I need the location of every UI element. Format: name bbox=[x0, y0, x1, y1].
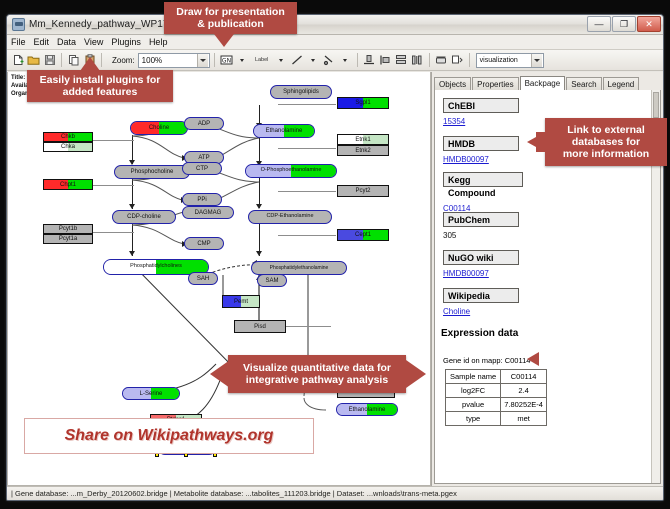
link-pcyt2-edge bbox=[278, 191, 336, 192]
status-bar: | Gene database: ...m_Derby_20120602.bri… bbox=[7, 486, 663, 500]
callout-line: Draw for presentation bbox=[176, 6, 285, 18]
node-sphingolipids[interactable]: Sphingolipids bbox=[270, 85, 332, 99]
align-top-icon[interactable] bbox=[362, 53, 377, 68]
node-label: O-Phosphoethanolamine bbox=[261, 168, 322, 174]
close-button[interactable]: ✕ bbox=[637, 16, 661, 32]
gene-etnk2[interactable]: Etnk2 bbox=[337, 145, 389, 156]
callout-line: Link to external bbox=[563, 124, 649, 136]
cell-key: pvalue bbox=[446, 398, 501, 412]
label-tool-icon[interactable]: Label bbox=[251, 53, 273, 68]
node-label: Pcyt1a bbox=[59, 236, 77, 242]
db-link-nugo[interactable]: HMDB00097 bbox=[443, 269, 519, 278]
menu-item-plugins[interactable]: Plugins bbox=[111, 37, 141, 47]
node-label: Pisd bbox=[254, 324, 266, 330]
node-cdp-ethanolamine[interactable]: CDP-Ethanolamine bbox=[248, 210, 332, 224]
node-l-serine-left[interactable]: L-Serine bbox=[122, 387, 180, 400]
toolbar-separator bbox=[429, 53, 430, 67]
share-banner-text: Share on Wikipathways.org bbox=[65, 427, 274, 445]
chevron-down-icon[interactable] bbox=[306, 53, 321, 68]
menu-item-view[interactable]: View bbox=[84, 37, 103, 47]
gene-pisd[interactable]: Pisd bbox=[234, 320, 286, 333]
gene-pcyt1b[interactable]: Pcyt1b bbox=[43, 224, 93, 234]
expression-table: Sample name C00114 log2FC 2.4 pvalue 7.8… bbox=[445, 369, 547, 426]
db-block-hmdb: HMDB HMDB00097 bbox=[443, 134, 519, 164]
db-block-kegg: Kegg Compound C00114 bbox=[443, 172, 523, 213]
new-file-icon[interactable] bbox=[10, 53, 25, 68]
db-name: HMDB bbox=[443, 136, 519, 151]
db-block-pubchem: PubChem 305 bbox=[443, 210, 519, 240]
gene-id-line: Gene id on mapp: C00114 bbox=[443, 356, 530, 365]
table-row: pvalue 7.80252E-4 bbox=[446, 398, 547, 412]
node-label: Cept1 bbox=[355, 232, 371, 238]
node-label: ATP bbox=[198, 155, 209, 161]
gene-pcyt1a[interactable]: Pcyt1a bbox=[43, 234, 93, 244]
callout-visualize: Visualize quantitative data for integrat… bbox=[228, 355, 406, 393]
callout-draw-arrow bbox=[214, 34, 234, 47]
node-label: Chpt1 bbox=[60, 182, 76, 188]
group-icon[interactable] bbox=[434, 53, 449, 68]
db-name: PubChem bbox=[443, 212, 519, 227]
link-pcyt1-edge bbox=[92, 232, 134, 233]
toolbar-separator bbox=[61, 53, 62, 67]
datanode-icon[interactable]: GN bbox=[219, 53, 234, 68]
callout-line: Easily install plugins for bbox=[40, 74, 161, 86]
callout-line: more information bbox=[563, 148, 649, 160]
gene-chpt1[interactable]: Chpt1 bbox=[43, 179, 93, 190]
visualization-combobox[interactable]: visualization bbox=[476, 53, 544, 68]
node-label: SAH bbox=[197, 276, 209, 282]
callout-links-arrow-stem bbox=[536, 132, 548, 152]
cell-value: C00114 bbox=[501, 370, 547, 384]
node-label: Sgpl1 bbox=[355, 100, 370, 106]
node-label: SAM bbox=[265, 278, 278, 284]
node-cmp[interactable]: CMP bbox=[184, 237, 224, 250]
visualization-value: visualization bbox=[480, 57, 518, 64]
callout-expression-arrow bbox=[527, 352, 539, 366]
node-label: Phosphocholine bbox=[131, 169, 174, 175]
callout-line: added features bbox=[40, 86, 161, 98]
db-link-chebi[interactable]: 15354 bbox=[443, 117, 519, 126]
callout-draw: Draw for presentation & publication bbox=[164, 2, 297, 34]
db-link-hmdb[interactable]: HMDB00097 bbox=[443, 155, 519, 164]
node-label: Pemt bbox=[234, 299, 248, 305]
node-label: Ethanolamine bbox=[266, 128, 303, 134]
callout-plugins: Easily install plugins for added feature… bbox=[27, 70, 173, 102]
db-block-chebi: ChEBI 15354 bbox=[443, 96, 519, 126]
node-cdp-choline[interactable]: CDP-choline bbox=[112, 210, 176, 224]
node-o-phosphoethanolamine[interactable]: O-Phosphoethanolamine bbox=[245, 164, 337, 178]
node-phosphocholine[interactable]: Phosphocholine bbox=[114, 165, 190, 179]
node-adp[interactable]: ADP bbox=[184, 117, 224, 130]
zoom-label: Zoom: bbox=[112, 56, 135, 65]
node-ethanolamine-right[interactable]: Ethanolamine bbox=[336, 403, 398, 416]
gene-chkb[interactable]: Chkb bbox=[43, 132, 93, 142]
link-ptdss2-edge bbox=[281, 326, 331, 327]
node-label: Choline bbox=[149, 125, 169, 131]
arrow-down-icon bbox=[129, 251, 135, 256]
callout-links: Link to external databases for more info… bbox=[545, 118, 667, 166]
db-value-pubchem: 305 bbox=[443, 231, 519, 240]
menu-bar: File Edit Data View Plugins Help bbox=[7, 35, 663, 50]
node-ethanolamine-top[interactable]: Ethanolamine bbox=[253, 124, 315, 138]
arrow-down-icon bbox=[256, 251, 262, 256]
order-icon[interactable] bbox=[450, 53, 465, 68]
db-block-wikipedia: Wikipedia Choline bbox=[443, 286, 519, 316]
tab-legend[interactable]: Legend bbox=[603, 77, 640, 90]
sidebar-tabs: Objects Properties Backpage Search Legen… bbox=[434, 76, 661, 90]
status-text: | Gene database: ...m_Derby_20120602.bri… bbox=[11, 489, 457, 498]
tab-backpage[interactable]: Backpage bbox=[520, 76, 566, 90]
gene-cept1[interactable]: Cept1 bbox=[337, 229, 389, 241]
callout-plugins-arrow bbox=[80, 57, 100, 71]
gene-pemt[interactable]: Pemt bbox=[222, 295, 260, 308]
open-folder-icon[interactable] bbox=[26, 53, 41, 68]
db-name: NuGO wiki bbox=[443, 250, 519, 265]
cell-key: Sample name bbox=[446, 370, 501, 384]
db-block-nugo: NuGO wiki HMDB00097 bbox=[443, 248, 519, 278]
cell-key: type bbox=[446, 412, 501, 426]
save-icon[interactable] bbox=[42, 53, 57, 68]
node-choline-top[interactable]: Choline bbox=[130, 121, 188, 135]
screen: Mm_Kennedy_pathway_WP1771_45176.gpml — ❐… bbox=[0, 0, 670, 509]
cell-value: 2.4 bbox=[501, 384, 547, 398]
node-label: Sphingolipids bbox=[283, 89, 319, 95]
zoom-value: 100% bbox=[142, 56, 162, 65]
node-sam[interactable]: SAM bbox=[257, 274, 287, 287]
node-ppi[interactable]: PPi bbox=[182, 193, 222, 206]
node-label: ADP bbox=[198, 121, 210, 127]
node-label: PPi bbox=[197, 197, 206, 203]
align-left-icon[interactable] bbox=[378, 53, 393, 68]
node-label: Pcyt1b bbox=[59, 226, 77, 232]
callout-line: databases for bbox=[563, 136, 649, 148]
menu-item-edit[interactable]: Edit bbox=[34, 37, 50, 47]
distribute-icon[interactable] bbox=[410, 53, 425, 68]
line-tool-icon[interactable] bbox=[290, 53, 305, 68]
minimize-button[interactable]: — bbox=[587, 16, 611, 32]
tab-search[interactable]: Search bbox=[566, 77, 601, 90]
arrow-down-icon bbox=[256, 204, 262, 209]
menu-item-file[interactable]: File bbox=[11, 37, 26, 47]
toolbar-separator bbox=[101, 53, 102, 67]
gene-chka[interactable]: Chka bbox=[43, 142, 93, 152]
node-label: Phosphatidylcholines bbox=[130, 264, 182, 270]
svg-text:GN: GN bbox=[222, 58, 231, 65]
table-row: log2FC 2.4 bbox=[446, 384, 547, 398]
gene-etnk1[interactable]: Etnk1 bbox=[337, 134, 389, 145]
node-label: Etnk1 bbox=[355, 137, 370, 143]
node-label: Pcyt2 bbox=[355, 188, 370, 194]
app-icon bbox=[12, 18, 25, 31]
node-label: Ethanolamine bbox=[349, 407, 386, 413]
chevron-down-icon[interactable] bbox=[531, 54, 542, 67]
node-label: L-Serine bbox=[140, 391, 163, 397]
toolbar-separator bbox=[214, 53, 215, 67]
scrollbar-thumb[interactable] bbox=[653, 92, 659, 118]
db-link-wikipedia[interactable]: Choline bbox=[443, 307, 519, 316]
node-ctp[interactable]: CTP bbox=[182, 162, 222, 175]
callout-line: Visualize quantitative data for bbox=[243, 362, 391, 374]
node-label: Chka bbox=[61, 144, 75, 150]
gene-pcyt2[interactable]: Pcyt2 bbox=[337, 185, 389, 197]
arrow-down-icon bbox=[129, 204, 135, 209]
node-label: Phosphatidylethanolamine bbox=[270, 266, 329, 271]
stack-icon[interactable] bbox=[394, 53, 409, 68]
cell-key: log2FC bbox=[446, 384, 501, 398]
tab-objects[interactable]: Objects bbox=[434, 77, 471, 90]
callout-line: integrative pathway analysis bbox=[243, 374, 391, 386]
menu-item-help[interactable]: Help bbox=[149, 37, 168, 47]
tab-properties[interactable]: Properties bbox=[472, 77, 518, 90]
node-dagmag[interactable]: DAGMAG bbox=[182, 206, 234, 219]
callout-visualize-arrow-left bbox=[210, 360, 230, 388]
node-sah[interactable]: SAH bbox=[188, 272, 218, 285]
node-label: DAGMAG bbox=[195, 210, 222, 216]
callout-line: & publication bbox=[176, 18, 285, 30]
gene-sgpl1[interactable]: Sgpl1 bbox=[337, 97, 389, 109]
node-phosphatidylethanolamine[interactable]: Phosphatidylethanolamine bbox=[251, 261, 347, 275]
share-banner: Share on Wikipathways.org bbox=[24, 418, 314, 454]
toolbar: Zoom: 100% GN Label bbox=[7, 50, 663, 71]
callout-visualize-arrow-right bbox=[406, 360, 426, 388]
link-etnk-edge bbox=[278, 148, 336, 149]
anchor-tool-icon[interactable] bbox=[322, 53, 337, 68]
node-label: CDP-choline bbox=[127, 214, 161, 220]
maximize-button[interactable]: ❐ bbox=[612, 16, 636, 32]
table-row: type met bbox=[446, 412, 547, 426]
cell-value: 7.80252E-4 bbox=[501, 398, 547, 412]
window-controls: — ❐ ✕ bbox=[587, 16, 661, 32]
db-name: Kegg Compound bbox=[443, 172, 523, 187]
link-sgpl1-edge bbox=[278, 104, 336, 105]
node-label: CTP bbox=[196, 166, 208, 172]
title-bar: Mm_Kennedy_pathway_WP1771_45176.gpml — ❐… bbox=[7, 15, 663, 35]
cell-value: met bbox=[501, 412, 547, 426]
db-name: ChEBI bbox=[443, 98, 519, 113]
chevron-down-icon[interactable] bbox=[338, 53, 353, 68]
toolbar-separator bbox=[357, 53, 358, 67]
link-chpt1-edge bbox=[92, 185, 134, 186]
node-label: CDP-Ethanolamine bbox=[266, 214, 313, 220]
copy-icon[interactable] bbox=[66, 53, 81, 68]
node-label: Chkb bbox=[61, 134, 75, 140]
chevron-down-icon[interactable] bbox=[197, 54, 208, 67]
node-label: CMP bbox=[197, 241, 210, 247]
chevron-down-icon[interactable] bbox=[274, 53, 289, 68]
expression-heading: Expression data bbox=[441, 328, 518, 339]
table-row: Sample name C00114 bbox=[446, 370, 547, 384]
link-chk-edge bbox=[92, 140, 134, 141]
zoom-combobox[interactable]: 100% bbox=[138, 53, 210, 68]
node-label: Etnk2 bbox=[355, 148, 370, 154]
menu-item-data[interactable]: Data bbox=[57, 37, 76, 47]
chevron-down-icon[interactable] bbox=[235, 53, 250, 68]
link-cept1-edge bbox=[278, 235, 336, 236]
toolbar-separator bbox=[469, 53, 470, 67]
db-name: Wikipedia bbox=[443, 288, 519, 303]
